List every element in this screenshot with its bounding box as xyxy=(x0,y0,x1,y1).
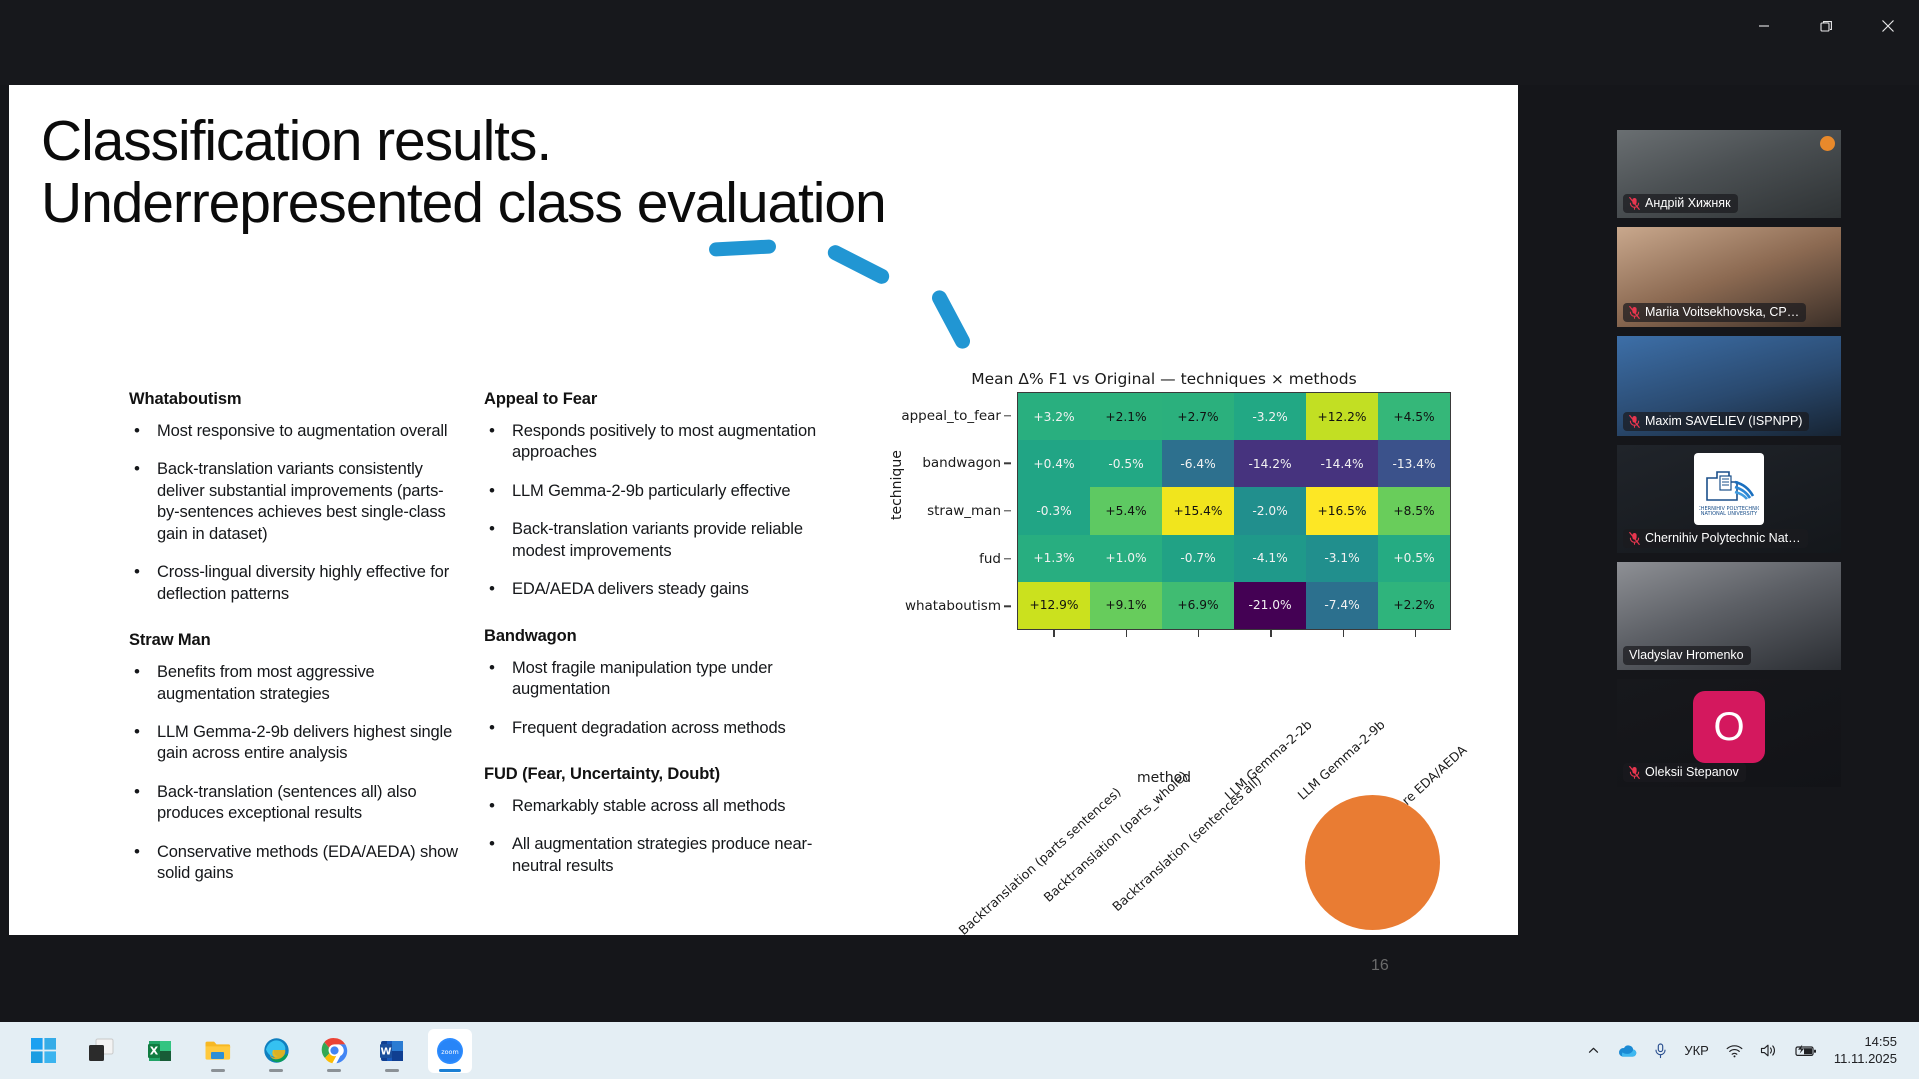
microphone-muted-icon xyxy=(1629,532,1640,545)
onedrive-icon[interactable] xyxy=(1617,1043,1637,1058)
bullet-item: All augmentation strategies produce near… xyxy=(484,834,834,877)
bullet-item: Most fragile manipulation type under aug… xyxy=(484,658,834,701)
svg-text:zoom: zoom xyxy=(441,1048,458,1056)
avatar: O xyxy=(1693,691,1765,763)
participant-name-label: Vladyslav Hromenko xyxy=(1623,646,1751,665)
bullet-item: Responds positively to most augmentation… xyxy=(484,421,834,464)
participant-name-label: Maxim SAVELIEV (ISPNPP) xyxy=(1623,412,1809,431)
bullet-item: Cross-lingual diversity highly effective… xyxy=(129,562,459,605)
slide-page-number: 16 xyxy=(1371,957,1389,975)
heatmap-cell: -0.5% xyxy=(1090,440,1162,487)
y-tick-mark xyxy=(1004,605,1011,606)
heatmap-cell: +0.5% xyxy=(1378,535,1450,582)
bullet-item: LLM Gemma-2-9b delivers highest single g… xyxy=(129,722,459,765)
excel-icon[interactable]: X xyxy=(138,1029,182,1073)
presentation-slide: Classification results. Underrepresented… xyxy=(9,85,1518,935)
heatmap-cell: -7.4% xyxy=(1306,582,1378,629)
heatmap-cell: -14.2% xyxy=(1234,440,1306,487)
minimize-button[interactable] xyxy=(1733,0,1795,52)
heatmap-row: +0.4%-0.5%-6.4%-14.2%-14.4%-13.4% xyxy=(1018,440,1450,487)
heatmap-cell: +5.4% xyxy=(1090,487,1162,534)
bullet-item: Most responsive to augmentation overall xyxy=(129,421,459,442)
y-tick-label: fud xyxy=(979,551,1001,567)
svg-text:X: X xyxy=(150,1044,159,1057)
participant-name-label: Андрій Хижняк xyxy=(1623,194,1738,213)
bullet-list: Benefits from most aggressive augmentati… xyxy=(129,662,459,885)
participant-name-text: Vladyslav Hromenko xyxy=(1629,648,1744,662)
heatmap-cell: +8.5% xyxy=(1378,487,1450,534)
bullet-list: Remarkably stable across all methodsAll … xyxy=(484,796,834,877)
heatmap-cell: +1.3% xyxy=(1018,535,1090,582)
bullet-item: Frequent degradation across methods xyxy=(484,718,834,739)
participant-tile[interactable]: Vladyslav Hromenko xyxy=(1617,562,1841,670)
heatmap-cell: -21.0% xyxy=(1234,582,1306,629)
word-icon[interactable]: W xyxy=(370,1029,414,1073)
bullet-item: Remarkably stable across all methods xyxy=(484,796,834,817)
slide-text-column-left: WhataboutismMost responsive to augmentat… xyxy=(129,390,459,902)
bullet-item: Back-translation variants provide reliab… xyxy=(484,519,834,562)
heatmap-cell: +6.9% xyxy=(1162,582,1234,629)
close-button[interactable] xyxy=(1857,0,1919,52)
svg-text:NATIONAL UNIVERSITY: NATIONAL UNIVERSITY xyxy=(1701,511,1758,517)
taskbar-app-list: XWzoom xyxy=(22,1029,472,1073)
microphone-muted-icon xyxy=(1629,197,1640,210)
maximize-button[interactable] xyxy=(1795,0,1857,52)
slide-title: Classification results. Underrepresented… xyxy=(41,110,1141,234)
y-tick-label: bandwagon xyxy=(922,455,1001,471)
slide-title-line-1: Classification results. xyxy=(41,110,1141,172)
participant-name-text: Андрій Хижняк xyxy=(1645,196,1731,210)
zoom-icon[interactable]: zoom xyxy=(428,1029,472,1073)
slide-text-column-right: Appeal to FearResponds positively to mos… xyxy=(484,390,834,894)
heatmap-cell: -0.3% xyxy=(1018,487,1090,534)
heatmap-cell: +12.9% xyxy=(1018,582,1090,629)
chart-title: Mean Δ% F1 vs Original — techniques × me… xyxy=(899,370,1429,388)
participant-tile[interactable]: OOleksii Stepanov xyxy=(1617,679,1841,787)
heatmap-cell: -0.7% xyxy=(1162,535,1234,582)
heatmap-cell: +2.2% xyxy=(1378,582,1450,629)
heatmap-cell: -6.4% xyxy=(1162,440,1234,487)
heatmap-cell: -2.0% xyxy=(1234,487,1306,534)
heatmap-cell: +1.0% xyxy=(1090,535,1162,582)
heatmap-table: +3.2%+2.1%+2.7%-3.2%+12.2%+4.5%+0.4%-0.5… xyxy=(1018,393,1450,629)
heatmap-row: -0.3%+5.4%+15.4%-2.0%+16.5%+8.5% xyxy=(1018,487,1450,534)
participant-tile[interactable]: Андрій Хижняк xyxy=(1617,130,1841,218)
microphone-muted-icon xyxy=(1629,415,1640,428)
heatmap-cell: +15.4% xyxy=(1162,487,1234,534)
decorative-stroke-icon xyxy=(709,239,777,256)
x-tick-mark xyxy=(1343,630,1344,637)
bullet-list: Responds positively to most augmentation… xyxy=(484,421,834,601)
university-logo-icon: CHERNIHIV POLYTECHNICNATIONAL UNIVERSITY xyxy=(1694,453,1764,525)
section-heading: FUD (Fear, Uncertainty, Doubt) xyxy=(484,765,834,784)
taskbar-clock[interactable]: 14:55 11.11.2025 xyxy=(1834,1034,1897,1068)
window-title-bar xyxy=(0,0,1919,85)
taskbar-system-tray: УКР 14:55 11.11.2025 xyxy=(1587,1034,1897,1068)
bullet-item: Back-translation (sentences all) also pr… xyxy=(129,782,459,825)
section-heading: Appeal to Fear xyxy=(484,390,834,409)
x-tick-mark xyxy=(1053,630,1054,637)
heatmap-cell: -3.2% xyxy=(1234,393,1306,440)
heatmap-cell: +9.1% xyxy=(1090,582,1162,629)
edge-icon[interactable] xyxy=(254,1029,298,1073)
clock-date: 11.11.2025 xyxy=(1834,1051,1897,1068)
heatmap-row: +12.9%+9.1%+6.9%-21.0%-7.4%+2.2% xyxy=(1018,582,1450,629)
microphone-icon[interactable] xyxy=(1654,1043,1667,1059)
microphone-muted-icon xyxy=(1629,766,1640,779)
bullet-item: Back-translation variants consistently d… xyxy=(129,459,459,545)
language-indicator[interactable]: УКР xyxy=(1684,1043,1709,1058)
start-button[interactable] xyxy=(22,1029,66,1073)
bullet-list: Most fragile manipulation type under aug… xyxy=(484,658,834,739)
heatmap-cell: +12.2% xyxy=(1306,393,1378,440)
y-tick-label: whataboutism xyxy=(905,598,1001,614)
y-tick-label: straw_man xyxy=(927,503,1001,519)
section-heading: Straw Man xyxy=(129,631,459,650)
participant-name-text: Maxim SAVELIEV (ISPNPP) xyxy=(1645,414,1802,428)
heatmap-cell: +4.5% xyxy=(1378,393,1450,440)
bullet-item: Conservative methods (EDA/AEDA) show sol… xyxy=(129,842,459,885)
participant-tile[interactable]: Maxim SAVELIEV (ISPNPP) xyxy=(1617,336,1841,436)
microphone-muted-icon xyxy=(1629,306,1640,319)
x-tick-mark xyxy=(1126,630,1127,637)
participant-name-text: Oleksii Stepanov xyxy=(1645,765,1739,779)
task-view-button[interactable] xyxy=(80,1029,124,1073)
heatmap-cell: -3.1% xyxy=(1306,535,1378,582)
participant-name-text: Mariia Voitsekhovska, CP… xyxy=(1645,305,1799,319)
participant-name-text: Chernihiv Polytechnic Nat… xyxy=(1645,531,1801,545)
participant-name-label: Oleksii Stepanov xyxy=(1623,763,1746,782)
chrome-icon[interactable] xyxy=(312,1029,356,1073)
heatmap-cell: +3.2% xyxy=(1018,393,1090,440)
bullet-list: Most responsive to augmentation overallB… xyxy=(129,421,459,605)
decorative-stroke-icon xyxy=(929,288,972,352)
participant-name-label: Mariia Voitsekhovska, CP… xyxy=(1623,303,1806,322)
chevron-up-icon[interactable] xyxy=(1587,1044,1600,1057)
y-tick-mark xyxy=(1004,558,1011,559)
decorative-stroke-icon xyxy=(825,243,892,287)
file-explorer-icon[interactable] xyxy=(196,1029,240,1073)
heatmap-grid: +3.2%+2.1%+2.7%-3.2%+12.2%+4.5%+0.4%-0.5… xyxy=(1017,392,1451,630)
heatmap-cell: +16.5% xyxy=(1306,487,1378,534)
wifi-icon[interactable] xyxy=(1726,1044,1743,1058)
heatmap-cell: +0.4% xyxy=(1018,440,1090,487)
battery-charging-icon[interactable] xyxy=(1795,1044,1817,1058)
decorative-circle-icon xyxy=(1305,795,1440,930)
participant-tile[interactable]: Mariia Voitsekhovska, CP… xyxy=(1617,227,1841,327)
heatmap-cell: -14.4% xyxy=(1306,440,1378,487)
clock-time: 14:55 xyxy=(1834,1034,1897,1051)
heatmap-cell: -13.4% xyxy=(1378,440,1450,487)
x-tick-mark xyxy=(1270,630,1271,637)
svg-text:W: W xyxy=(380,1046,391,1057)
heatmap-row: +1.3%+1.0%-0.7%-4.1%-3.1%+0.5% xyxy=(1018,535,1450,582)
chart-x-tick-labels: Backtranslation (parts sentences)Backtra… xyxy=(1017,642,1487,772)
windows-taskbar: XWzoom УКР xyxy=(0,1022,1919,1079)
participant-video-strip: Андрій ХижнякMariia Voitsekhovska, CP…Ma… xyxy=(1617,130,1841,796)
heatmap-cell: +2.1% xyxy=(1090,393,1162,440)
bullet-item: LLM Gemma-2-9b particularly effective xyxy=(484,481,834,502)
x-tick-mark xyxy=(1198,630,1199,637)
heatmap-chart: Mean Δ% F1 vs Original — techniques × me… xyxy=(899,370,1429,790)
participant-tile[interactable]: CHERNIHIV POLYTECHNICNATIONAL UNIVERSITY… xyxy=(1617,445,1841,553)
bullet-item: Benefits from most aggressive augmentati… xyxy=(129,662,459,705)
heatmap-cell: -4.1% xyxy=(1234,535,1306,582)
y-tick-label: appeal_to_fear xyxy=(901,408,1001,424)
section-heading: Whataboutism xyxy=(129,390,459,409)
slide-title-line-2: Underrepresented class evaluation xyxy=(41,172,1141,234)
y-tick-mark xyxy=(1004,510,1011,511)
host-badge-icon xyxy=(1820,136,1835,151)
y-tick-mark xyxy=(1004,463,1011,464)
section-heading: Bandwagon xyxy=(484,627,834,646)
chart-y-tick-labels: appeal_to_fearbandwagonstraw_manfudwhata… xyxy=(899,392,1011,630)
heatmap-row: +3.2%+2.1%+2.7%-3.2%+12.2%+4.5% xyxy=(1018,393,1450,440)
x-tick-mark xyxy=(1415,630,1416,637)
heatmap-cell: +2.7% xyxy=(1162,393,1234,440)
chart-x-ticks xyxy=(1017,630,1451,642)
participant-name-label: Chernihiv Polytechnic Nat… xyxy=(1623,529,1808,548)
bullet-item: EDA/AEDA delivers steady gains xyxy=(484,579,834,600)
volume-icon[interactable] xyxy=(1760,1043,1778,1058)
y-tick-mark xyxy=(1004,415,1011,416)
